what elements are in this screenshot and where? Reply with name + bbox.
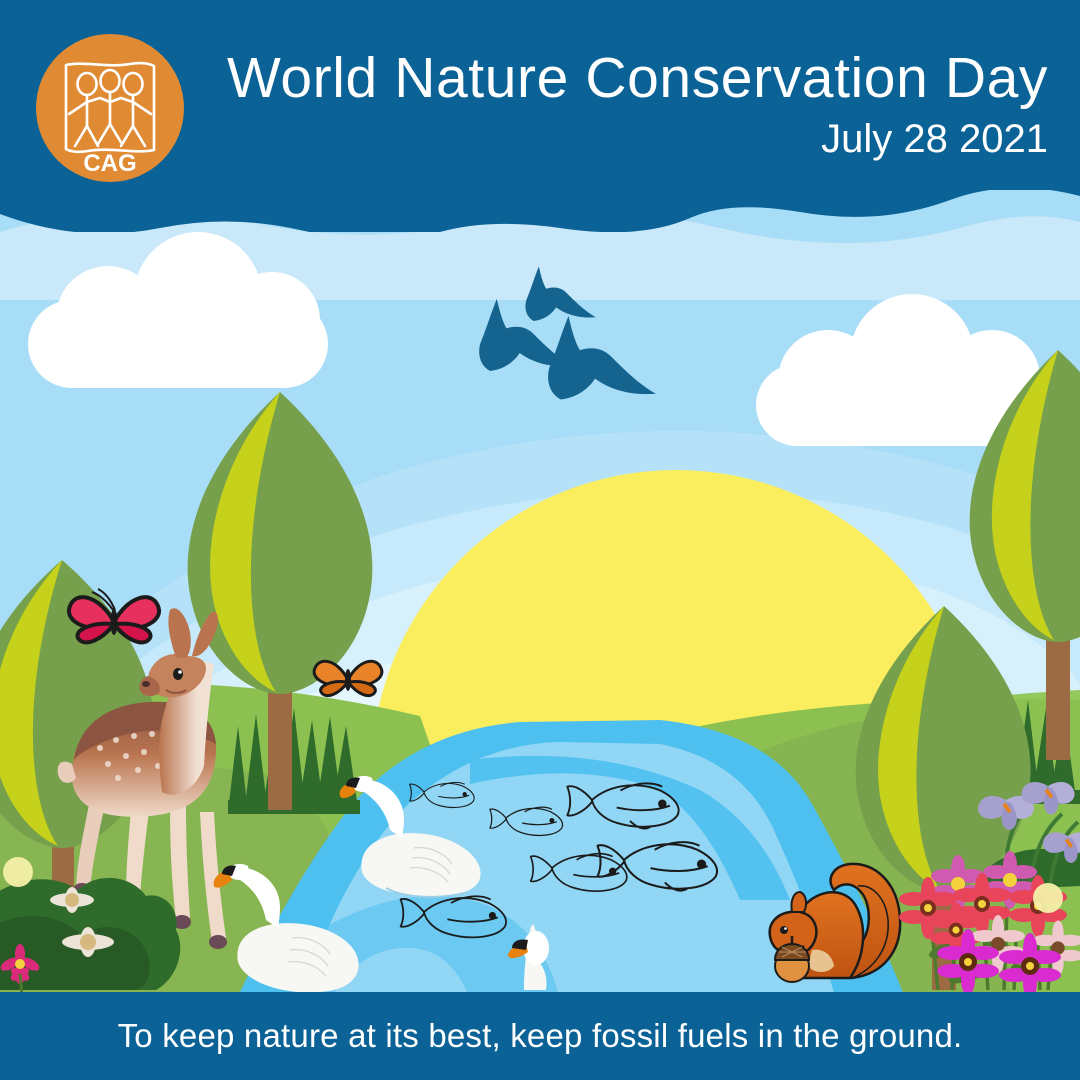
- poster-canvas: CAG World Nature Conservation Day July 2…: [0, 0, 1080, 1080]
- logo-label: CAG: [83, 150, 136, 177]
- orb-left: [3, 857, 33, 887]
- bush-left: [0, 878, 180, 996]
- cag-logo: CAG: [36, 34, 184, 182]
- page-subtitle: July 28 2021: [196, 116, 1048, 162]
- page-title: World Nature Conservation Day: [196, 48, 1048, 108]
- tagline: To keep nature at its best, keep fossil …: [0, 992, 1080, 1080]
- title-block: World Nature Conservation Day July 28 20…: [196, 48, 1048, 162]
- orb-right: [1033, 883, 1063, 913]
